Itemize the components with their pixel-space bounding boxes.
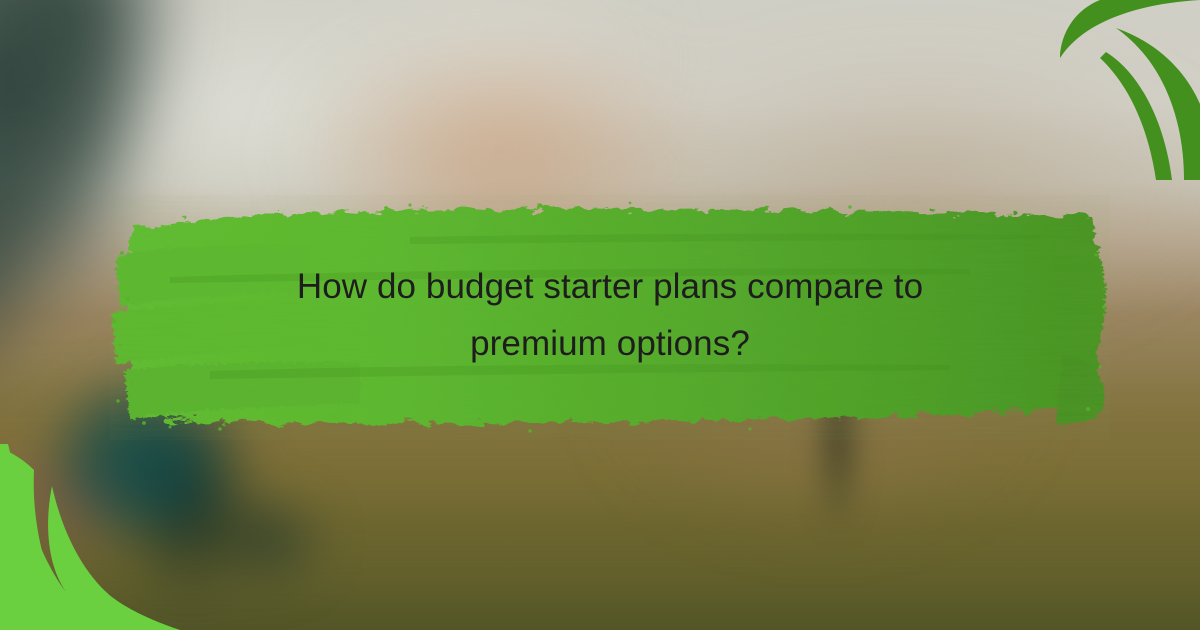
leaf-swoosh-bottom-left — [0, 430, 180, 630]
quote-card: How do budget starter plans compare to p… — [0, 0, 1200, 630]
leaf-swoosh-top-right — [1060, 0, 1200, 180]
page-title: How do budget starter plans compare to p… — [150, 258, 1070, 372]
